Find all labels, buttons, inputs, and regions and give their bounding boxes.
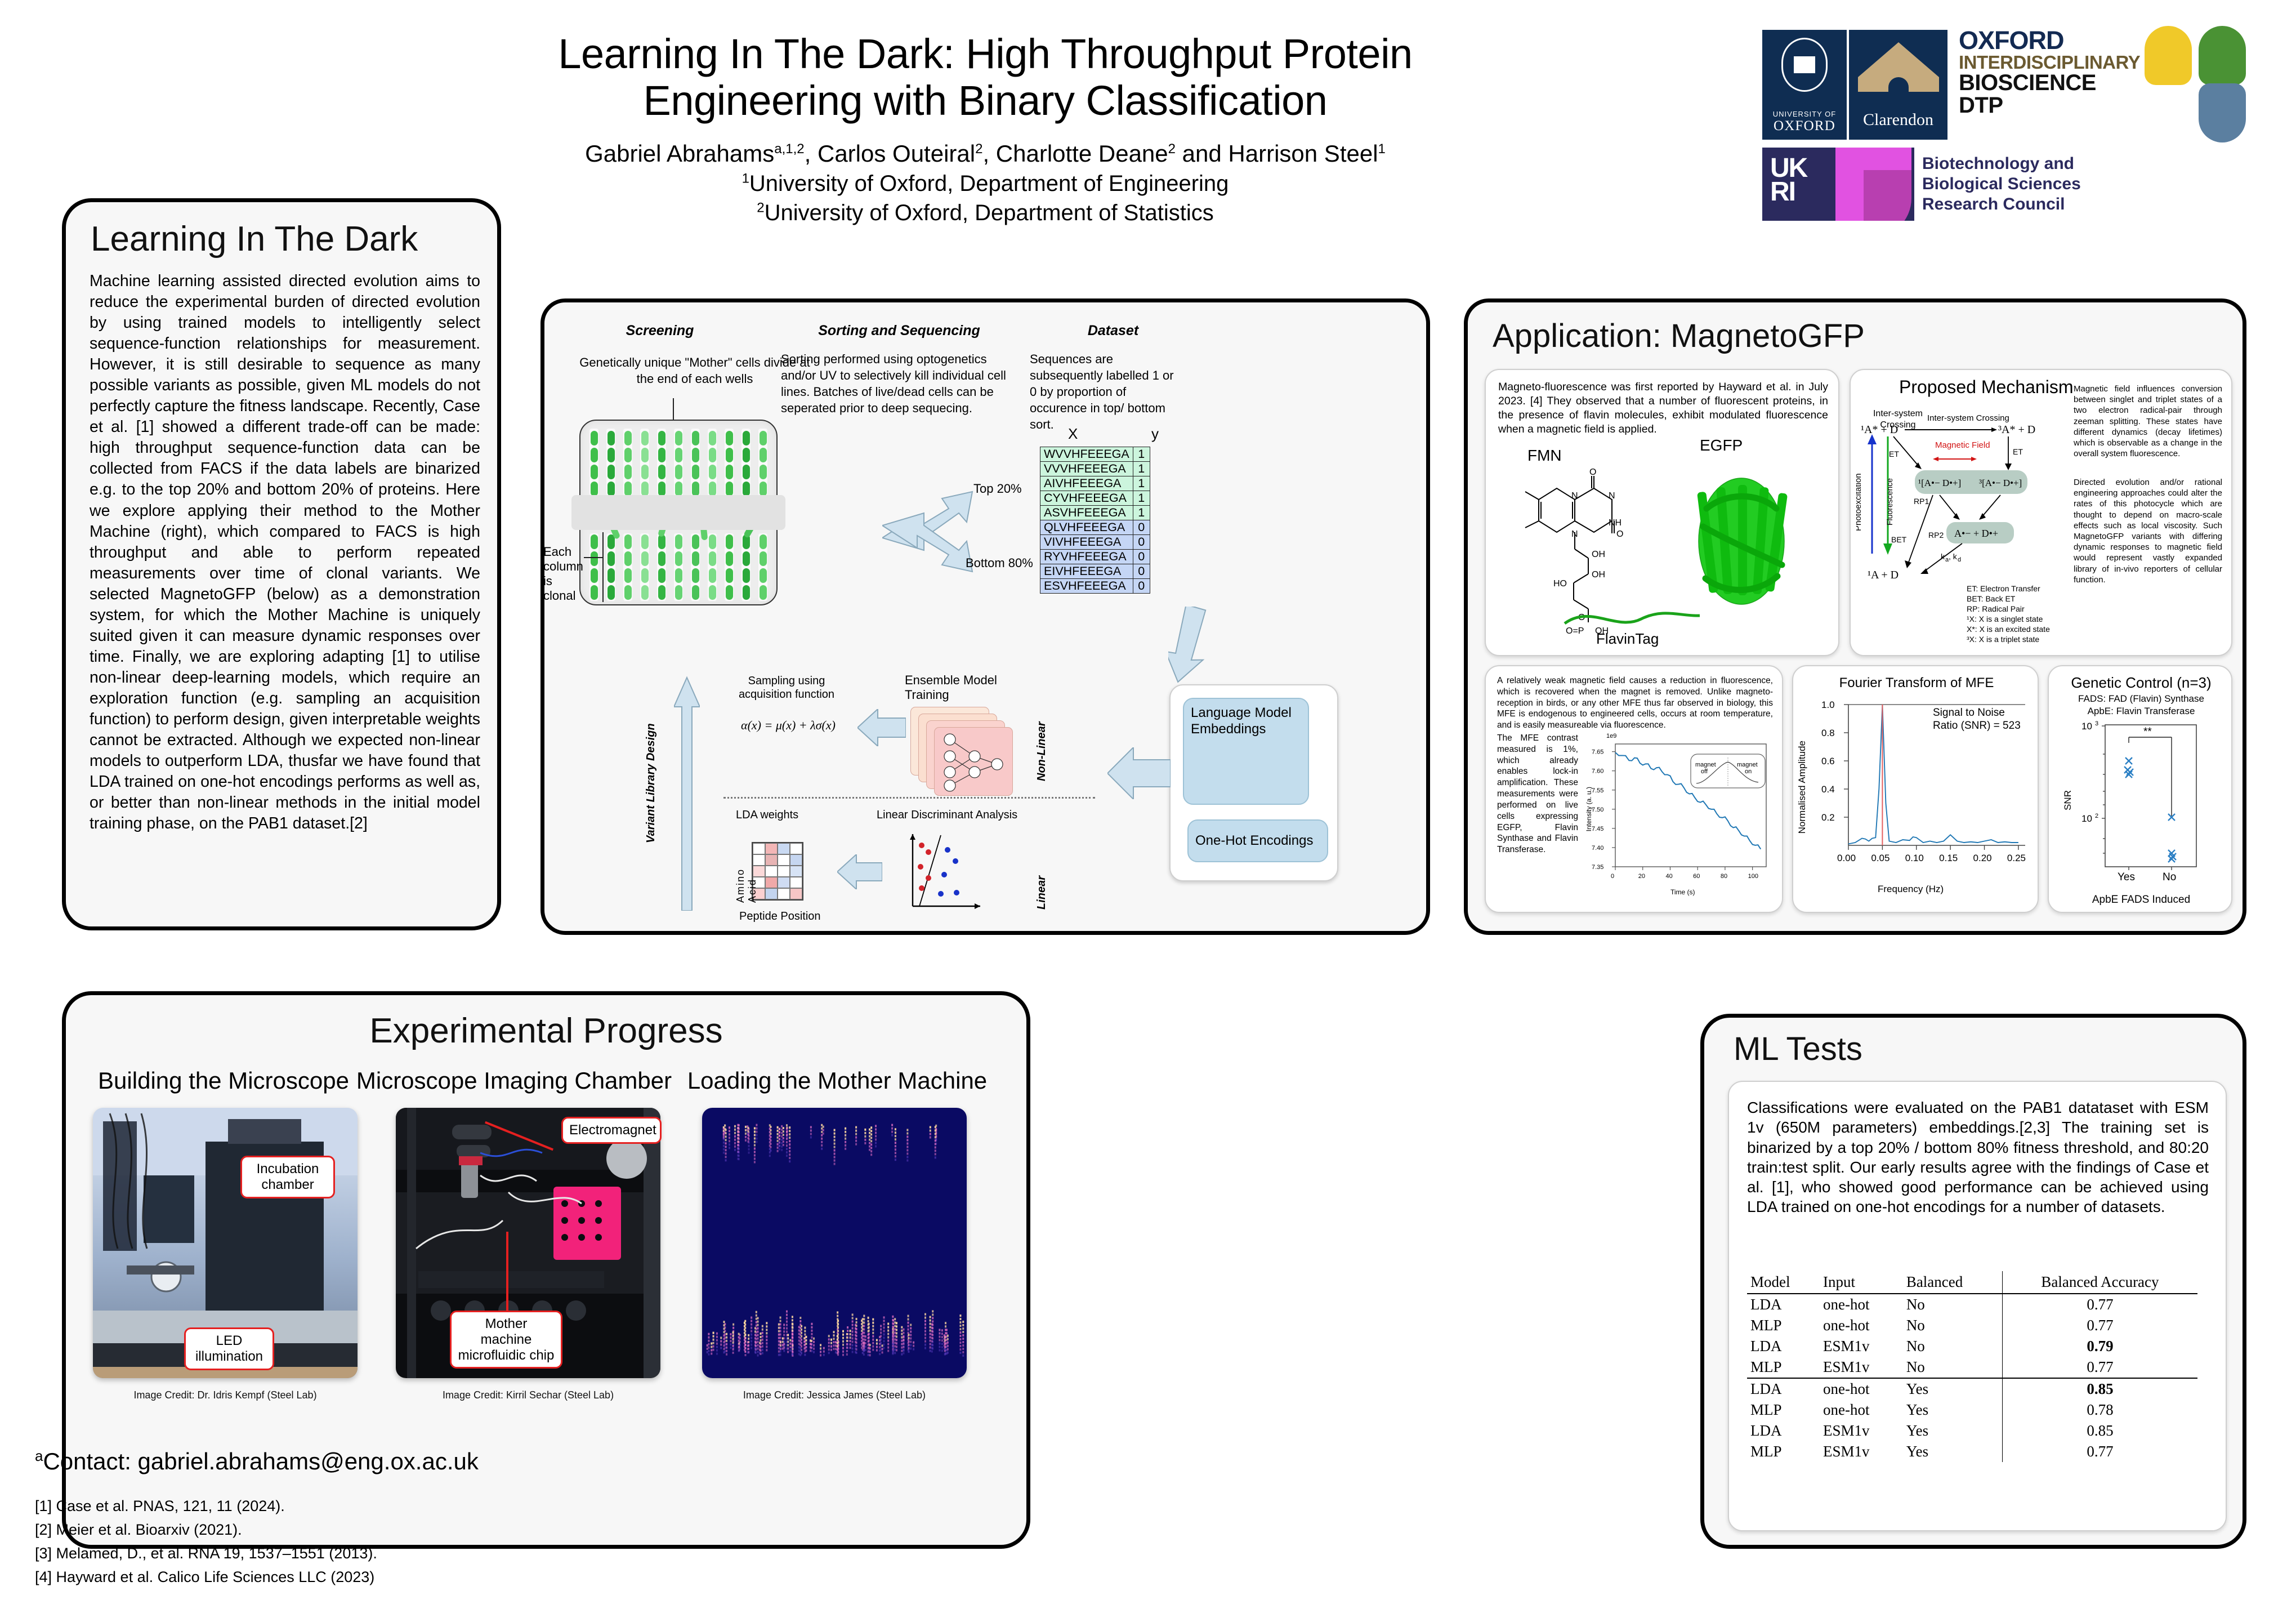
card-proposed-mechanism: Proposed Mechanism Inter-system Crossing… <box>1850 369 2232 656</box>
mfe-text-1: A relatively weak magnetic field causes … <box>1497 675 1773 731</box>
cell-glyph <box>743 585 750 600</box>
cell-balanced: Yes <box>1903 1378 2003 1400</box>
svg-text:¹A + D: ¹A + D <box>1868 569 1899 581</box>
svg-text:N: N <box>1609 491 1615 501</box>
lda-weight-cell <box>778 854 790 866</box>
lda-weight-cell <box>790 877 802 888</box>
cell-glyph <box>760 568 767 583</box>
callout-incubation-chamber: Incubation chamber <box>240 1156 335 1198</box>
panel-application-magnetogfp: Application: MagnetoGFP Magneto-fluoresc… <box>1464 298 2246 935</box>
logo-row-bottom: UKRI Biotechnology and Biological Scienc… <box>1762 148 2081 221</box>
cell-balanced-accuracy: 0.79 <box>2002 1336 2197 1357</box>
workflow-head-sorting: Sorting and Sequencing <box>781 323 1017 339</box>
cell-glyph <box>743 551 750 566</box>
chart2-ytick: 0.6 <box>1821 756 1835 767</box>
svg-text:RP2: RP2 <box>1928 531 1944 540</box>
svg-text:, k: , k <box>1949 552 1958 561</box>
cell-glyph <box>726 465 733 479</box>
dtp-line1: OXFORD <box>1959 28 2145 53</box>
cell-glyph <box>760 551 767 566</box>
chart3-xtick-yes: Yes <box>2118 871 2135 883</box>
cell-glyph <box>658 431 665 445</box>
chart1-xtick: 40 <box>1665 873 1672 880</box>
svg-text:Magnetic Field: Magnetic Field <box>1935 440 1990 450</box>
cell-glyph <box>743 431 750 445</box>
cell-model: LDA <box>1747 1378 1820 1400</box>
svg-text:¹[A•− D•+]: ¹[A•− D•+] <box>1918 478 1961 488</box>
cell-glyph <box>692 534 699 549</box>
lda-weight-cell <box>790 888 802 899</box>
cell-glyph <box>675 482 682 496</box>
university-of-oxford-logo: UNIVERSITY OF OXFORD <box>1762 30 1847 140</box>
svg-text:O: O <box>1616 529 1623 539</box>
cell-glyph <box>709 482 716 496</box>
cell-glyph <box>743 482 750 496</box>
chart1-ytick: 7.65 <box>1592 749 1603 756</box>
sequence-cell: RYVHFEEEGA <box>1040 550 1133 564</box>
cell-model: MLP <box>1747 1400 1820 1420</box>
variant-library-arrow-icon <box>674 674 700 911</box>
dtp-petals-icon <box>2145 26 2257 144</box>
affil-2-sup: 2 <box>757 200 764 215</box>
card-magnetofluorescence-intro: Magneto-fluorescence was first reported … <box>1485 369 1839 656</box>
cell-glyph <box>607 465 615 479</box>
label-cell: 0 <box>1133 535 1150 550</box>
label-cell: 0 <box>1133 564 1150 579</box>
neural-network-stack-icon <box>910 707 1023 791</box>
svg-text:10: 10 <box>2081 721 2092 732</box>
author-1-sup: a,1,2 <box>774 141 804 157</box>
arrow-left-to-models-icon <box>1107 747 1171 799</box>
cell-glyph <box>641 534 649 549</box>
chart3-ylabel: SNR <box>2062 790 2074 810</box>
chart2-ytick: 1.0 <box>1821 699 1835 710</box>
cell-model: LDA <box>1747 1336 1820 1357</box>
svg-text:A•− + D•+: A•− + D•+ <box>1954 528 1998 539</box>
cell-glyph <box>591 551 598 566</box>
legend-item: ET: Electron Transfer <box>1967 584 2079 594</box>
table-row: MLPone-hotNo0.77 <box>1747 1315 2197 1336</box>
sequence-cell: WVVHFEEEGA <box>1040 447 1133 462</box>
sequence-cell: ESVHFEEEGA <box>1040 579 1133 594</box>
arrow-to-embeddings-icon <box>1168 607 1230 685</box>
cell-glyph <box>624 551 632 566</box>
linear-label: Linear <box>1035 848 1048 910</box>
clarendon-logo: Clarendon <box>1849 30 1947 140</box>
svg-text:3: 3 <box>2095 720 2098 727</box>
cell-balanced: No <box>1903 1315 2003 1336</box>
chart2-ytick: 0.8 <box>1821 728 1835 738</box>
non-linear-label: Non-Linear <box>1035 697 1048 781</box>
chart-genetic-control-svg: 103 102 ** <box>2080 720 2221 889</box>
svg-text:O: O <box>1589 467 1596 477</box>
chart1-exponent: 1e9 <box>1606 733 1616 739</box>
table-row: AIVHFEEEGA1 <box>1040 476 1150 491</box>
cell-glyph <box>607 448 615 462</box>
chip-caption: Genetically unique "Mother" cells divide… <box>579 354 810 387</box>
table-row: LDAone-hotNo0.77 <box>1747 1294 2197 1315</box>
cell-glyph <box>591 465 598 479</box>
affiliation-2: 2University of Oxford, Department of Sta… <box>450 198 1520 228</box>
cell-glyph <box>675 465 682 479</box>
chart1-ytick: 7.40 <box>1592 845 1603 852</box>
cell-glyph <box>591 448 598 462</box>
cell-model: MLP <box>1747 1315 1820 1336</box>
title-block: Learning In The Dark: High Throughput Pr… <box>450 31 1520 228</box>
lda-weight-cell <box>765 888 778 899</box>
table-header: Model <box>1747 1271 1820 1294</box>
panel-ml-tests: ML Tests Classifications were evaluated … <box>1700 1014 2246 1549</box>
label-cell: 1 <box>1133 462 1150 476</box>
chart1-xlabel: Time (s) <box>1670 888 1695 896</box>
table-row: ESVHFEEEGA0 <box>1040 579 1150 594</box>
photo-loading-mother-machine <box>702 1108 967 1378</box>
cell-glyph <box>658 585 665 600</box>
chart2-ytick: 0.2 <box>1821 812 1835 823</box>
cell-glyph <box>591 568 598 583</box>
table-row: MLPESM1vNo0.77 <box>1747 1357 2197 1378</box>
cell-glyph <box>675 448 682 462</box>
egfp-structure-icon <box>1672 452 1812 621</box>
table-row: MLPESM1vYes0.77 <box>1747 1441 2197 1462</box>
svg-text:N: N <box>1571 491 1578 501</box>
table-row: EIVHFEEEGA0 <box>1040 564 1150 579</box>
sequence-cell: QLVHFEEEGA <box>1040 520 1133 535</box>
lda-scatter-icon <box>905 832 984 914</box>
cell-glyph <box>726 534 733 549</box>
cell-balanced: No <box>1903 1336 2003 1357</box>
svg-text:off: off <box>1701 768 1708 775</box>
sorting-text: Sorting performed using optogenetics and… <box>781 351 1006 416</box>
cell-glyph <box>726 431 733 445</box>
clonal-column-label: Each column is clonal <box>543 545 585 603</box>
reference-list: [1] Case et al. PNAS, 121, 11 (2024).[2]… <box>35 1495 377 1589</box>
cell-glyph <box>641 465 649 479</box>
dtp-line3: BIOSCIENCE DTP <box>1959 72 2145 117</box>
author-list: Gabriel Abrahamsa,1,2, Carlos Outeiral2,… <box>450 139 1520 169</box>
cell-glyph <box>692 482 699 496</box>
cell-glyph <box>591 431 598 445</box>
cell-glyph <box>591 534 598 549</box>
ml-tests-heading: ML Tests <box>1734 1030 1862 1068</box>
table-row: WVVHFEEEGA1 <box>1040 447 1150 462</box>
cell-glyph <box>692 465 699 479</box>
cell-glyph <box>607 482 615 496</box>
cell-glyph <box>641 568 649 583</box>
bbsrc-line1: Biotechnology and <box>1922 154 2081 174</box>
contact-sup: a <box>35 1447 43 1464</box>
cell-glyph <box>726 551 733 566</box>
cell-balanced: No <box>1903 1357 2003 1378</box>
chart-mfe-timetrace: 1e9 Intensity (a. u.) 7.357.407.457.507.… <box>1586 733 1775 902</box>
cell-glyph <box>760 482 767 496</box>
table-row: VVVHFEEEGA1 <box>1040 462 1150 476</box>
cell-balanced-accuracy: 0.77 <box>2002 1315 2197 1336</box>
ml-tests-card: Classifications were evaluated on the PA… <box>1728 1081 2227 1531</box>
oxford-logo-line1: UNIVERSITY OF <box>1773 110 1836 118</box>
logo-group: UNIVERSITY OF OXFORD Clarendon OXFORD IN… <box>1762 28 2269 225</box>
legend-item: RP: Radical Pair <box>1967 604 2079 614</box>
author-1: Gabriel Abrahams <box>585 140 774 167</box>
experimental-heading: Experimental Progress <box>66 1011 1026 1051</box>
photo-title-1: Building the Microscope <box>72 1067 376 1094</box>
contact-text[interactable]: Contact: gabriel.abrahams@eng.ox.ac.uk <box>43 1448 478 1474</box>
chart1-ytick: 7.55 <box>1592 787 1603 794</box>
sequence-cell: VIVHFEEEGA <box>1040 535 1133 550</box>
cell-balanced: No <box>1903 1294 2003 1315</box>
svg-text:RP1: RP1 <box>1914 497 1929 506</box>
callout-mother-machine-chip: Mother machine microfluidic chip <box>450 1311 562 1369</box>
sequence-cell: AIVHFEEEGA <box>1040 476 1133 491</box>
cell-glyph <box>641 551 649 566</box>
lda-weight-cell <box>778 877 790 888</box>
svg-text:ET: ET <box>2013 447 2023 456</box>
cell-glyph <box>658 482 665 496</box>
page-title-line1: Learning In The Dark: High Throughput Pr… <box>450 31 1520 78</box>
cell-input: ESM1v <box>1820 1336 1903 1357</box>
cell-glyph <box>658 465 665 479</box>
svg-text:ET: ET <box>1889 449 1899 458</box>
oxford-crest-icon <box>1781 38 1828 92</box>
lda-weight-cell <box>778 843 790 854</box>
cell-glyph <box>658 551 665 566</box>
reference-item: [3] Melamed, D., et al. RNA 19, 1537–155… <box>35 1542 377 1566</box>
table-row: LDAESM1vYes0.85 <box>1747 1420 2197 1441</box>
chart3-xlabel: ApbE FADS Induced <box>2049 894 2234 906</box>
cell-glyph <box>624 465 632 479</box>
cell-glyph <box>726 585 733 600</box>
table-row: CYVHFEEEGA1 <box>1040 491 1150 506</box>
chart3-subtitle-1: FADS: FAD (Flavin) Synthase <box>2049 693 2234 705</box>
top-20-label: Top 20% <box>973 480 1022 497</box>
chart2-xtick: 0.25 <box>2007 853 2026 863</box>
chart1-xtick: 0 <box>1611 873 1614 880</box>
svg-text:10: 10 <box>2081 813 2092 824</box>
author-2: , Carlos Outeiral <box>805 140 975 167</box>
author-4: and Harrison Steel <box>1176 140 1378 167</box>
cell-glyph <box>658 568 665 583</box>
cell-balanced-accuracy: 0.78 <box>2002 1400 2197 1420</box>
cell-glyph <box>743 448 750 462</box>
cell-glyph <box>760 585 767 600</box>
arrow-nn-to-acq-icon <box>857 709 906 746</box>
svg-text:magnet: magnet <box>1695 761 1716 768</box>
cell-glyph <box>641 585 649 600</box>
clarendon-logo-text: Clarendon <box>1863 110 1933 130</box>
reference-item: [4] Hayward et al. Calico Life Sciences … <box>35 1566 377 1589</box>
chart2-xlabel: Frequency (Hz) <box>1878 884 1944 895</box>
cell-model: MLP <box>1747 1357 1820 1378</box>
left-panel-body: Machine learning assisted directed evolu… <box>90 271 480 834</box>
dataset-col-x: X <box>1068 425 1078 443</box>
sequence-cell: VVVHFEEEGA <box>1040 462 1133 476</box>
bbsrc-line2: Biological Sciences <box>1922 174 2081 194</box>
photo-title-3: Loading the Mother Machine <box>668 1067 1006 1094</box>
card-mfe-measurement: A relatively weak magnetic field causes … <box>1485 665 1783 913</box>
label-cell: 1 <box>1133 476 1150 491</box>
cell-glyph <box>692 568 699 583</box>
callout-led-illumination: LED illumination <box>184 1327 274 1370</box>
cell-glyph <box>709 431 716 445</box>
photo-credit-2: Image Credit: Kirril Sechar (Steel Lab) <box>396 1389 660 1401</box>
svg-text:2: 2 <box>2095 813 2098 819</box>
reference-item: [2] Meier et al. Bioarxiv (2021). <box>35 1518 377 1542</box>
cell-input: one-hot <box>1820 1294 1903 1315</box>
cell-glyph <box>709 465 716 479</box>
cell-input: one-hot <box>1820 1400 1903 1420</box>
clarendon-gate-icon <box>1858 42 1939 77</box>
bottom-80-label: Bottom 80% <box>966 555 1033 571</box>
cell-input: one-hot <box>1820 1315 1903 1336</box>
chart1-xtick: 80 <box>1721 873 1727 880</box>
lda-weight-cell <box>765 866 778 877</box>
card-genetic-control: Genetic Control (n=3) FADS: FAD (Flavin)… <box>2048 665 2232 913</box>
table-row: VIVHFEEEGA0 <box>1040 535 1150 550</box>
cell-balanced-accuracy: 0.85 <box>2002 1420 2197 1441</box>
label-cell: 0 <box>1133 550 1150 564</box>
lda-weight-cell <box>778 888 790 899</box>
chart3-significance: ** <box>2143 726 2152 738</box>
cell-balanced-accuracy: 0.77 <box>2002 1294 2197 1315</box>
dataset-col-y: y <box>1151 425 1159 443</box>
legend-item: ³X: X is a triplet state <box>1967 635 2079 645</box>
cell-model: LDA <box>1747 1294 1820 1315</box>
card-fourier-transform: Fourier Transform of MFE Signal to Noise… <box>1792 665 2039 913</box>
one-hot-encodings-label: One-Hot Encodings <box>1187 819 1328 862</box>
page-title-line2: Engineering with Binary Classification <box>450 78 1520 124</box>
chart2-ylabel: Normalised Amplitude <box>1797 741 1808 834</box>
chart1-ytick: 7.35 <box>1592 864 1603 871</box>
cell-glyph <box>641 482 649 496</box>
chart1-xtick: 60 <box>1693 873 1700 880</box>
affil-2-text: University of Oxford, Department of Stat… <box>765 200 1214 225</box>
cell-glyph <box>760 465 767 479</box>
lda-weight-cell <box>790 854 802 866</box>
table-row: LDAone-hotYes0.85 <box>1747 1378 2197 1400</box>
chart2-xtick: 0.20 <box>1973 853 1992 863</box>
legend-item: BET: Back ET <box>1967 594 2079 604</box>
chart2-title: Fourier Transform of MFE <box>1793 675 2040 691</box>
lda-weight-cell <box>765 854 778 866</box>
author-3: , Charlotte Deane <box>982 140 1168 167</box>
cell-glyph <box>743 465 750 479</box>
chart2-xtick: 0.15 <box>1939 853 1958 863</box>
photo-credit-1: Image Credit: Dr. Idris Kempf (Steel Lab… <box>93 1389 358 1401</box>
author-3-sup: 2 <box>1168 141 1176 157</box>
affiliation-1: 1University of Oxford, Department of Eng… <box>450 169 1520 198</box>
svg-text:BET: BET <box>1891 535 1907 544</box>
cell-glyph <box>624 448 632 462</box>
cell-glyph <box>624 431 632 445</box>
photo-credit-3: Image Credit: Jessica James (Steel Lab) <box>702 1389 967 1401</box>
cell-glyph <box>675 585 682 600</box>
sequence-cell: CYVHFEEEGA <box>1040 491 1133 506</box>
dtp-line2: INTERDISCIPLINARY <box>1959 53 2145 72</box>
poster-root: Learning In The Dark: High Throughput Pr… <box>0 0 2296 1622</box>
cell-glyph <box>624 534 632 549</box>
reference-item: [1] Case et al. PNAS, 121, 11 (2024). <box>35 1495 377 1518</box>
cell-glyph <box>709 448 716 462</box>
chart-fourier-svg: 0.20.40.60.81.0 0.000.050.100.150.200.25 <box>1809 694 2034 880</box>
acquisition-formula: α(x) = μ(x) + λσ(x) <box>723 718 853 733</box>
cell-glyph <box>743 568 750 583</box>
cell-glyph <box>760 534 767 549</box>
svg-text:³A* + D: ³A* + D <box>1998 424 2035 436</box>
lda-weight-cell <box>778 866 790 877</box>
fmn-label: FMN <box>1527 447 1562 465</box>
flavintag-label: FlavinTag <box>1596 630 1659 648</box>
ensemble-model-training-label: Ensemble Model Training <box>905 673 1006 702</box>
cell-model: LDA <box>1747 1420 1820 1441</box>
cell-glyph <box>692 431 699 445</box>
author-4-sup: 1 <box>1378 141 1386 157</box>
cell-balanced: Yes <box>1903 1420 2003 1441</box>
amino-acid-axis-label: Amino Acid <box>735 841 758 903</box>
svg-text:³[A•− D•+]: ³[A•− D•+] <box>1979 478 2022 488</box>
chart1-ytick: 7.60 <box>1592 768 1603 775</box>
left-panel-heading: Learning In The Dark <box>91 219 418 259</box>
svg-text:N: N <box>1571 529 1578 539</box>
svg-text:OH: OH <box>1592 570 1605 580</box>
callout-electromagnet: Electromagnet <box>561 1117 662 1144</box>
svg-text:on: on <box>1745 768 1752 775</box>
chart1-ytick: 7.50 <box>1592 806 1603 813</box>
application-heading: Application: MagnetoGFP <box>1493 317 1865 355</box>
bbsrc-line3: Research Council <box>1922 194 2081 215</box>
svg-text:Photoexcitation: Photoexcitation <box>1856 473 1863 531</box>
sequence-cell: EIVHFEEEGA <box>1040 564 1133 579</box>
cell-glyph <box>726 568 733 583</box>
cell-glyph <box>692 551 699 566</box>
cell-balanced: Yes <box>1903 1441 2003 1462</box>
mechanism-legend: ET: Electron TransferBET: Back ETRP: Rad… <box>1967 584 2079 644</box>
cell-input: ESM1v <box>1820 1420 1903 1441</box>
cell-glyph <box>760 431 767 445</box>
legend-item: ¹X: X is a singlet state <box>1967 614 2079 625</box>
table-header: Input <box>1820 1271 1903 1294</box>
variant-library-design-label: Variant Library Design <box>645 719 657 843</box>
label-cell: 0 <box>1133 579 1150 594</box>
cell-glyph <box>726 482 733 496</box>
svg-text:Inter-system Crossing: Inter-system Crossing <box>1927 413 2009 423</box>
cell-glyph <box>675 431 682 445</box>
cell-glyph <box>675 551 682 566</box>
ml-tests-body: Classifications were evaluated on the PA… <box>1747 1098 2209 1217</box>
ukri-logo-text: UKRI <box>1770 157 1807 204</box>
cell-glyph <box>607 431 615 445</box>
chart3-title: Genetic Control (n=3) <box>2049 674 2234 692</box>
cell-glyph <box>709 534 716 549</box>
cell-glyph <box>607 585 615 600</box>
cell-glyph <box>624 568 632 583</box>
cell-model: MLP <box>1747 1441 1820 1462</box>
cell-input: ESM1v <box>1820 1357 1903 1378</box>
sampling-acquisition-label: Sampling using acquisition function <box>730 674 843 701</box>
cell-glyph <box>624 482 632 496</box>
lda-weights-label: LDA weights <box>736 808 798 823</box>
photo-title-2: Microscope Imaging Chamber <box>334 1067 694 1094</box>
cell-glyph <box>591 482 598 496</box>
svg-text:Fluorescence: Fluorescence <box>1885 478 1894 525</box>
application-intro-text: Magneto-fluorescence was first reported … <box>1498 380 1828 436</box>
logo-row-top: UNIVERSITY OF OXFORD Clarendon OXFORD IN… <box>1762 28 2145 141</box>
chart3-subtitle-2: ApbE: Flavin Transferase <box>2049 706 2234 717</box>
mechanism-text-2: Directed evolution and/or rational engin… <box>2074 477 2222 585</box>
svg-text:NH: NH <box>1609 518 1622 528</box>
lda-weight-cell <box>790 866 802 877</box>
cell-input: one-hot <box>1820 1378 1903 1400</box>
chart1-xtick: 20 <box>1638 873 1645 880</box>
